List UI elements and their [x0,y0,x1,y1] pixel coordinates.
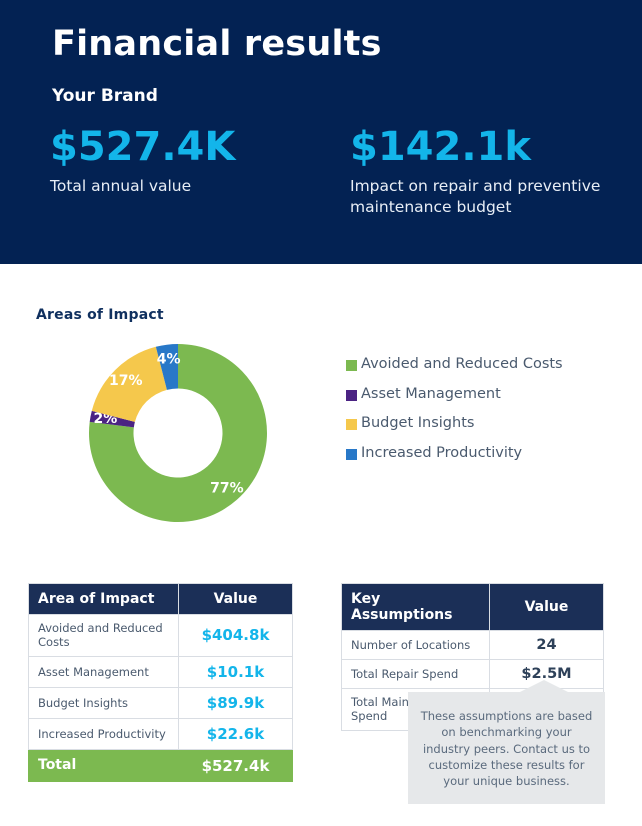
column-header-value: Value [179,584,293,615]
legend-swatch-icon [346,449,357,460]
donut-slice-label: 17% [109,373,143,389]
legend-label: Avoided and Reduced Costs [361,356,563,374]
cell-value: $404.8k [179,615,293,657]
table-row: Avoided and Reduced Costs $404.8k [29,615,293,657]
column-header-key-assumptions: Key Assumptions [342,584,490,631]
callout-tail-icon [520,680,568,692]
stat-label: Total annual value [50,176,330,197]
legend-label: Increased Productivity [361,445,522,463]
stat-label: Impact on repair and preventive maintena… [350,176,620,218]
cell-value: $89.9k [179,687,293,718]
legend-label: Asset Management [361,386,501,404]
column-header-value: Value [490,584,604,631]
cell-value: 24 [490,631,604,660]
brand-subtitle: Your Brand [52,86,158,106]
donut-chart-svg: 77%2%17%4% [88,342,268,524]
table-row: Budget Insights $89.9k [29,687,293,718]
cell-label: Budget Insights [29,687,179,718]
legend-label: Budget Insights [361,415,474,433]
stat-value: $527.4K [50,126,330,168]
chart-legend: Avoided and Reduced Costs Asset Manageme… [346,356,596,463]
cell-total-value: $527.4k [179,749,293,782]
table-header-row: Key Assumptions Value [342,584,604,631]
table-header-row: Area of Impact Value [29,584,293,615]
stat-value: $142.1k [350,126,620,168]
legend-item-budget-insights[interactable]: Budget Insights [346,415,596,433]
legend-swatch-icon [346,390,357,401]
legend-item-avoided-and-reduced-costs[interactable]: Avoided and Reduced Costs [346,356,596,374]
table-row: Increased Productivity $22.6k [29,718,293,749]
cell-label: Increased Productivity [29,718,179,749]
stat-total-annual-value: $527.4K Total annual value [50,126,330,197]
cell-label: Number of Locations [342,631,490,660]
cell-value: $10.1k [179,656,293,687]
cell-label: Total Repair Spend [342,660,490,689]
legend-item-increased-productivity[interactable]: Increased Productivity [346,445,596,463]
cell-label: Asset Management [29,656,179,687]
donut-chart: 77%2%17%4% [88,342,268,524]
page-title: Financial results [52,24,382,64]
table-row: Number of Locations 24 [342,631,604,660]
legend-swatch-icon [346,360,357,371]
legend-item-asset-management[interactable]: Asset Management [346,386,596,404]
column-header-area-of-impact: Area of Impact [29,584,179,615]
donut-slice-label: 77% [210,480,244,496]
header-banner: Financial results Your Brand $527.4K Tot… [0,0,642,264]
table-row: Asset Management $10.1k [29,656,293,687]
table-total-row: Total $527.4k [29,749,293,782]
stat-maintenance-impact: $142.1k Impact on repair and preventive … [350,126,620,218]
chart-title: Areas of Impact [36,307,164,323]
impact-table: Area of Impact Value Avoided and Reduced… [28,583,293,782]
donut-slice-label: 4% [157,352,181,368]
legend-swatch-icon [346,419,357,430]
cell-label: Avoided and Reduced Costs [29,615,179,657]
cell-total-label: Total [29,749,179,782]
callout-text: These assumptions are based on benchmark… [421,709,593,788]
cell-value: $22.6k [179,718,293,749]
assumptions-callout: These assumptions are based on benchmark… [408,692,605,804]
callout-body: These assumptions are based on benchmark… [408,692,605,804]
